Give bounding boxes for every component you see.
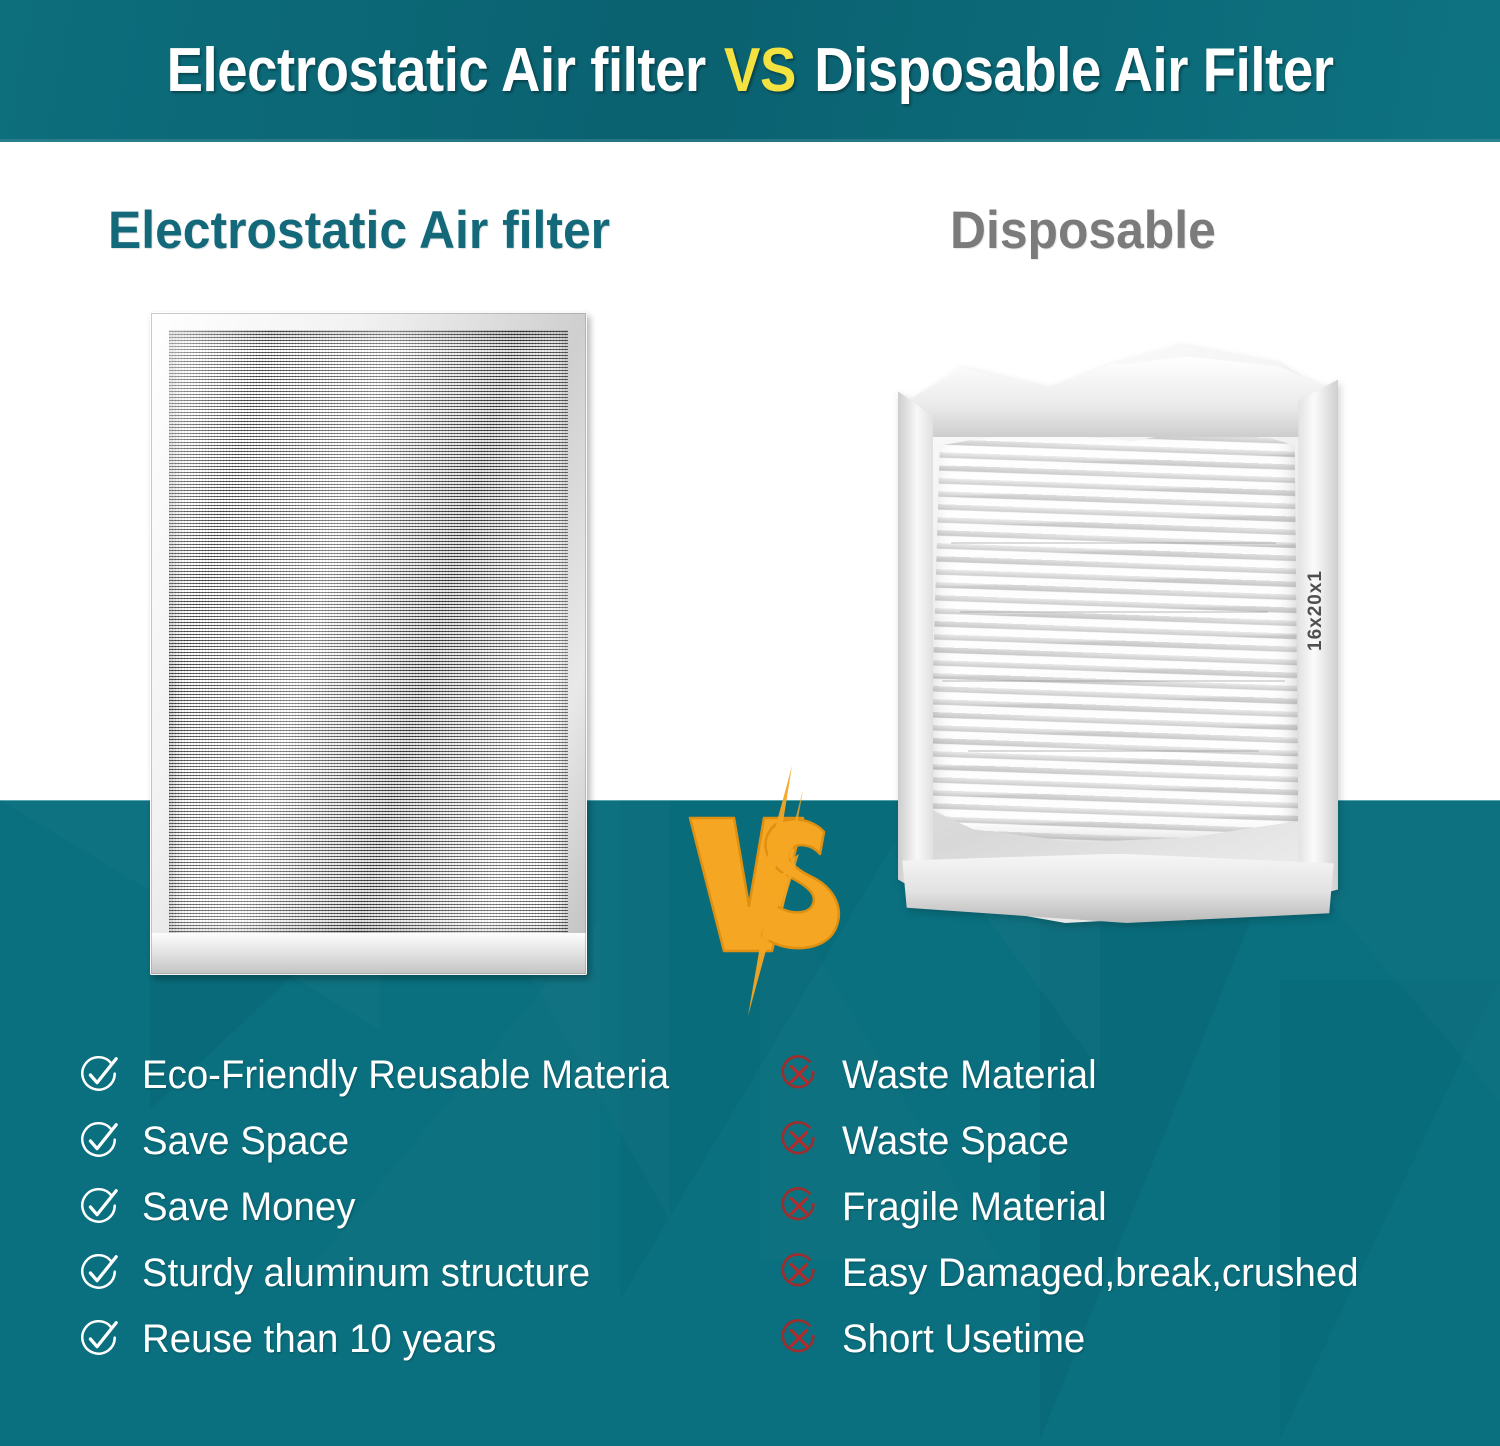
list-item-label: Waste Space xyxy=(842,1121,1069,1161)
list-item-label: Sturdy aluminum structure xyxy=(142,1253,590,1293)
check-circle-icon xyxy=(78,1318,120,1360)
title-part-one: Electrostatic Air filter xyxy=(167,36,721,105)
electrostatic-filter-image xyxy=(150,312,587,975)
check-circle-icon xyxy=(78,1252,120,1294)
title-vs: VS xyxy=(720,36,799,105)
list-item: Fragile Material xyxy=(778,1174,1478,1240)
list-item-label: Eco-Friendly Reusable Materia xyxy=(142,1055,669,1095)
list-item: Easy Damaged,break,crushed xyxy=(778,1240,1478,1306)
list-item: Save Space xyxy=(78,1108,778,1174)
disposable-filter-image: 16x20x1 xyxy=(898,345,1338,923)
list-item: Waste Space xyxy=(778,1108,1478,1174)
check-circle-icon xyxy=(78,1186,120,1228)
right-column-heading: Disposable xyxy=(950,204,1216,257)
list-item-label: Save Space xyxy=(142,1121,349,1161)
x-circle-icon xyxy=(778,1120,820,1162)
media-crease xyxy=(968,750,1258,752)
vs-lightning-icon xyxy=(672,766,848,1016)
x-circle-icon xyxy=(778,1318,820,1360)
filter-mesh xyxy=(169,330,568,935)
title-part-two: Disposable Air Filter xyxy=(799,36,1333,105)
list-item-label: Reuse than 10 years xyxy=(142,1319,496,1359)
filter-size-label: 16x20x1 xyxy=(1305,570,1327,651)
disposable-frame-bottom xyxy=(902,854,1333,923)
disposable-frame-top xyxy=(902,357,1333,438)
check-circle-icon xyxy=(78,1120,120,1162)
pros-list: Eco-Friendly Reusable Materia Save Space… xyxy=(78,1042,778,1372)
vs-badge xyxy=(672,766,848,1016)
x-circle-icon xyxy=(778,1252,820,1294)
media-crease xyxy=(960,611,1268,613)
filter-bottom-rail xyxy=(150,933,587,975)
list-item: Save Money xyxy=(78,1174,778,1240)
x-circle-icon xyxy=(778,1054,820,1096)
list-item-label: Easy Damaged,break,crushed xyxy=(842,1253,1359,1293)
list-item: Short Usetime xyxy=(778,1306,1478,1372)
page-title: Electrostatic Air filter VS Disposable A… xyxy=(167,40,1334,102)
disposable-fiberglass-media xyxy=(929,420,1299,842)
infographic-page: Electrostatic Air filter VS Disposable A… xyxy=(0,0,1500,1446)
disposable-frame-left xyxy=(898,391,933,900)
x-circle-icon xyxy=(778,1186,820,1228)
list-item: Waste Material xyxy=(778,1042,1478,1108)
list-item-label: Short Usetime xyxy=(842,1319,1085,1359)
list-item-label: Fragile Material xyxy=(842,1187,1107,1227)
media-crease xyxy=(951,542,1277,544)
media-crease xyxy=(942,680,1285,682)
list-item: Sturdy aluminum structure xyxy=(78,1240,778,1306)
cons-list: Waste Material Waste Space Fragile Mater… xyxy=(778,1042,1478,1372)
list-item: Reuse than 10 years xyxy=(78,1306,778,1372)
header-banner: Electrostatic Air filter VS Disposable A… xyxy=(0,0,1500,142)
check-circle-icon xyxy=(78,1054,120,1096)
list-item: Eco-Friendly Reusable Materia xyxy=(78,1042,778,1108)
list-item-label: Waste Material xyxy=(842,1055,1097,1095)
left-column-heading: Electrostatic Air filter xyxy=(108,204,610,257)
list-item-label: Save Money xyxy=(142,1187,355,1227)
